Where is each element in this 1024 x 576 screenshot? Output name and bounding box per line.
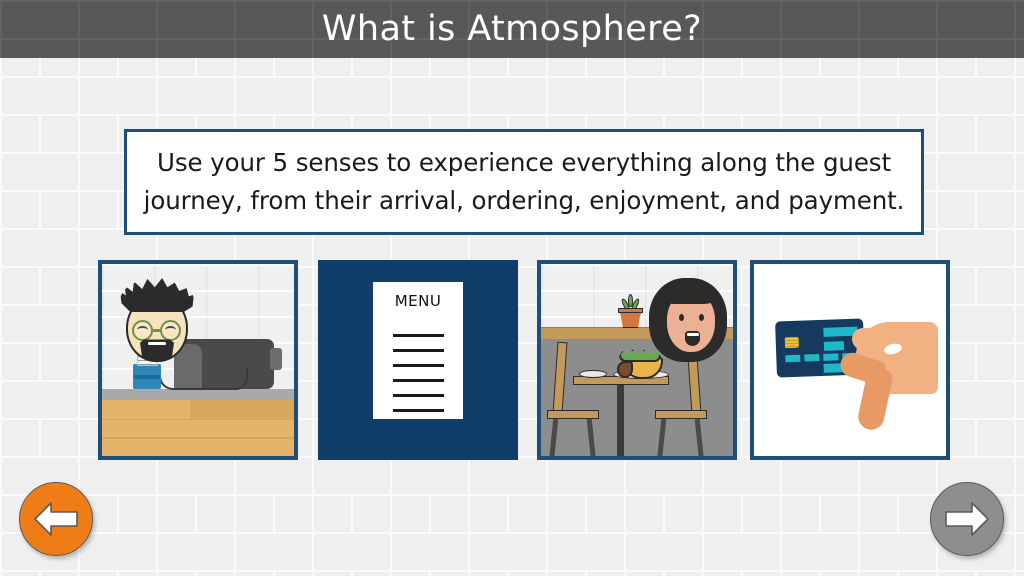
image-panel-payment[interactable] (750, 260, 950, 460)
statement-line-2: journey, from their arrival, ordering, e… (144, 182, 905, 220)
taco-filling (617, 361, 633, 378)
image-panel-ordering[interactable]: MENU (318, 260, 518, 460)
image-panel-enjoyment[interactable] (537, 260, 737, 460)
menu-line (393, 364, 444, 367)
guest-eye-left (679, 314, 684, 321)
arrow-right-icon (944, 500, 990, 538)
cashier-head (120, 276, 194, 358)
plant-pot-rim (618, 308, 643, 313)
menu-line (393, 409, 444, 412)
payment-scene (754, 264, 946, 456)
arrival-scene (102, 264, 294, 456)
counter-top-edge (102, 389, 294, 400)
slide-canvas: What is Atmosphere? Use your 5 senses to… (0, 0, 1024, 576)
statement-line-1: Use your 5 senses to experience everythi… (157, 144, 891, 182)
dining-scene (541, 264, 733, 456)
arrow-left-icon (33, 500, 79, 538)
wooden-counter (102, 400, 294, 456)
menu-line (393, 334, 444, 337)
card-chip-icon (785, 337, 799, 348)
previous-slide-button[interactable] (19, 482, 93, 556)
card-terminal (133, 364, 161, 389)
register-knob (270, 348, 282, 370)
glasses-bridge (153, 329, 160, 332)
hand (832, 322, 938, 422)
taco (617, 349, 665, 379)
menu-card-title: MENU (373, 292, 463, 310)
dining-table-leg (617, 385, 624, 457)
chair-left (547, 342, 601, 460)
empty-plate (579, 370, 607, 378)
menu-line (393, 349, 444, 352)
slide-title-bar: What is Atmosphere? (0, 0, 1024, 58)
guest-bangs (661, 284, 717, 304)
page-title: What is Atmosphere? (322, 12, 702, 47)
ordering-scene: MENU (318, 260, 518, 460)
glasses-lens-left (132, 320, 153, 341)
glasses-lens-right (160, 320, 181, 341)
menu-card: MENU (373, 282, 463, 419)
register-cable-right (202, 368, 248, 390)
next-slide-button[interactable] (930, 482, 1004, 556)
statement-box: Use your 5 senses to experience everythi… (124, 129, 924, 235)
taco-lettuce (619, 349, 661, 362)
image-panel-arrival[interactable] (98, 260, 298, 460)
guest-eye-right (699, 314, 704, 321)
menu-line (393, 394, 444, 397)
menu-line (393, 379, 444, 382)
guest-mouth (685, 331, 700, 346)
guest-head (649, 278, 727, 362)
